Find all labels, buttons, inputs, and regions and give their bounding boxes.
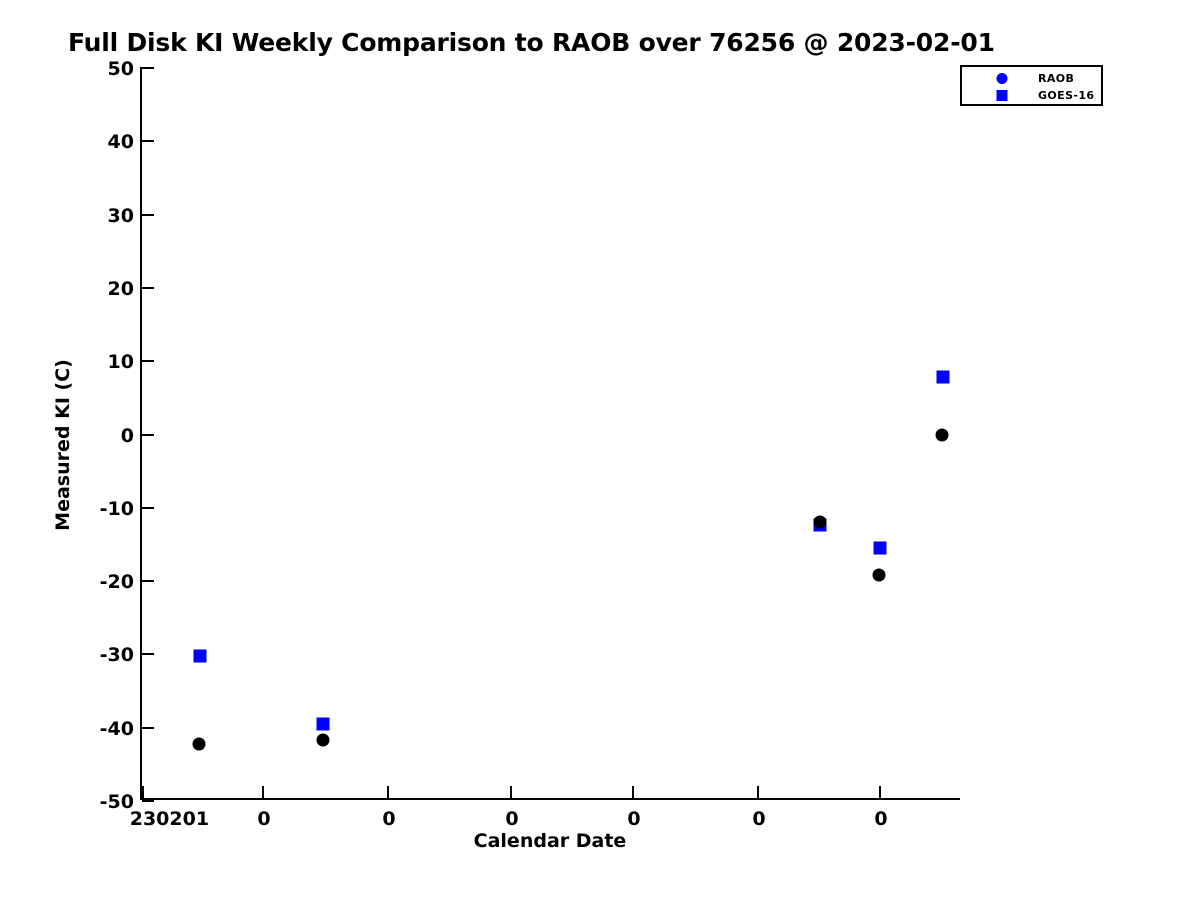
x-tick: 0: [879, 786, 881, 798]
data-point-goes-16: [873, 541, 886, 554]
x-axis-label: Calendar Date: [140, 830, 960, 852]
y-tick: -30: [142, 653, 154, 655]
y-tick: 40: [142, 140, 154, 142]
x-tick: 0: [632, 786, 634, 798]
y-tick: 10: [142, 360, 154, 362]
y-tick: -50: [142, 800, 154, 802]
data-point-raob: [192, 738, 205, 751]
x-tick: 0: [262, 786, 264, 798]
x-tick-label: 0: [382, 808, 395, 830]
chart-legend: RAOB GOES-16: [960, 65, 1103, 106]
x-tick: 0: [757, 786, 759, 798]
y-tick: 20: [142, 287, 154, 289]
x-tick: 230201: [142, 786, 144, 798]
y-tick: -20: [142, 580, 154, 582]
plot-area: 50403020100-10-20-30-40-50 230201000000: [140, 67, 960, 800]
legend-label: RAOB: [1038, 72, 1074, 85]
data-point-goes-16: [316, 717, 329, 730]
x-tick: 0: [510, 786, 512, 798]
y-tick-label: -30: [100, 644, 134, 666]
y-tick-label: -40: [100, 718, 134, 740]
y-tick-label: 10: [108, 351, 134, 373]
legend-marker-square-icon: [997, 90, 1008, 101]
x-tick-label: 0: [627, 808, 640, 830]
y-tick: -40: [142, 727, 154, 729]
x-tick-label: 0: [505, 808, 518, 830]
x-tick-label: 0: [752, 808, 765, 830]
data-point-raob: [316, 733, 329, 746]
data-point-raob: [813, 516, 826, 529]
page-title: Full Disk KI Weekly Comparison to RAOB o…: [68, 28, 995, 57]
data-point-raob: [935, 428, 948, 441]
y-tick: 0: [142, 434, 154, 436]
data-point-goes-16: [193, 650, 206, 663]
y-tick-label: 30: [108, 205, 134, 227]
x-tick-label: 0: [874, 808, 887, 830]
legend-label: GOES-16: [1038, 89, 1095, 102]
legend-marker-circle-icon: [997, 73, 1008, 84]
legend-entry-goes16: GOES-16: [962, 86, 1101, 105]
y-tick-label: 40: [108, 131, 134, 153]
y-axis-label: Measured KI (C): [52, 345, 74, 545]
x-tick-label: 230201: [130, 808, 209, 830]
data-point-raob: [873, 568, 886, 581]
y-tick: 50: [142, 67, 154, 69]
y-tick: 30: [142, 214, 154, 216]
data-point-goes-16: [936, 371, 949, 384]
y-tick-label: -20: [100, 571, 134, 593]
x-tick: 0: [387, 786, 389, 798]
y-tick-label: 50: [108, 58, 134, 80]
x-tick-label: 0: [257, 808, 270, 830]
y-tick-label: 0: [121, 425, 134, 447]
y-tick-label: 20: [108, 278, 134, 300]
chart-figure: Full Disk KI Weekly Comparison to RAOB o…: [0, 0, 1200, 900]
y-tick: -10: [142, 507, 154, 509]
y-tick-label: -10: [100, 498, 134, 520]
